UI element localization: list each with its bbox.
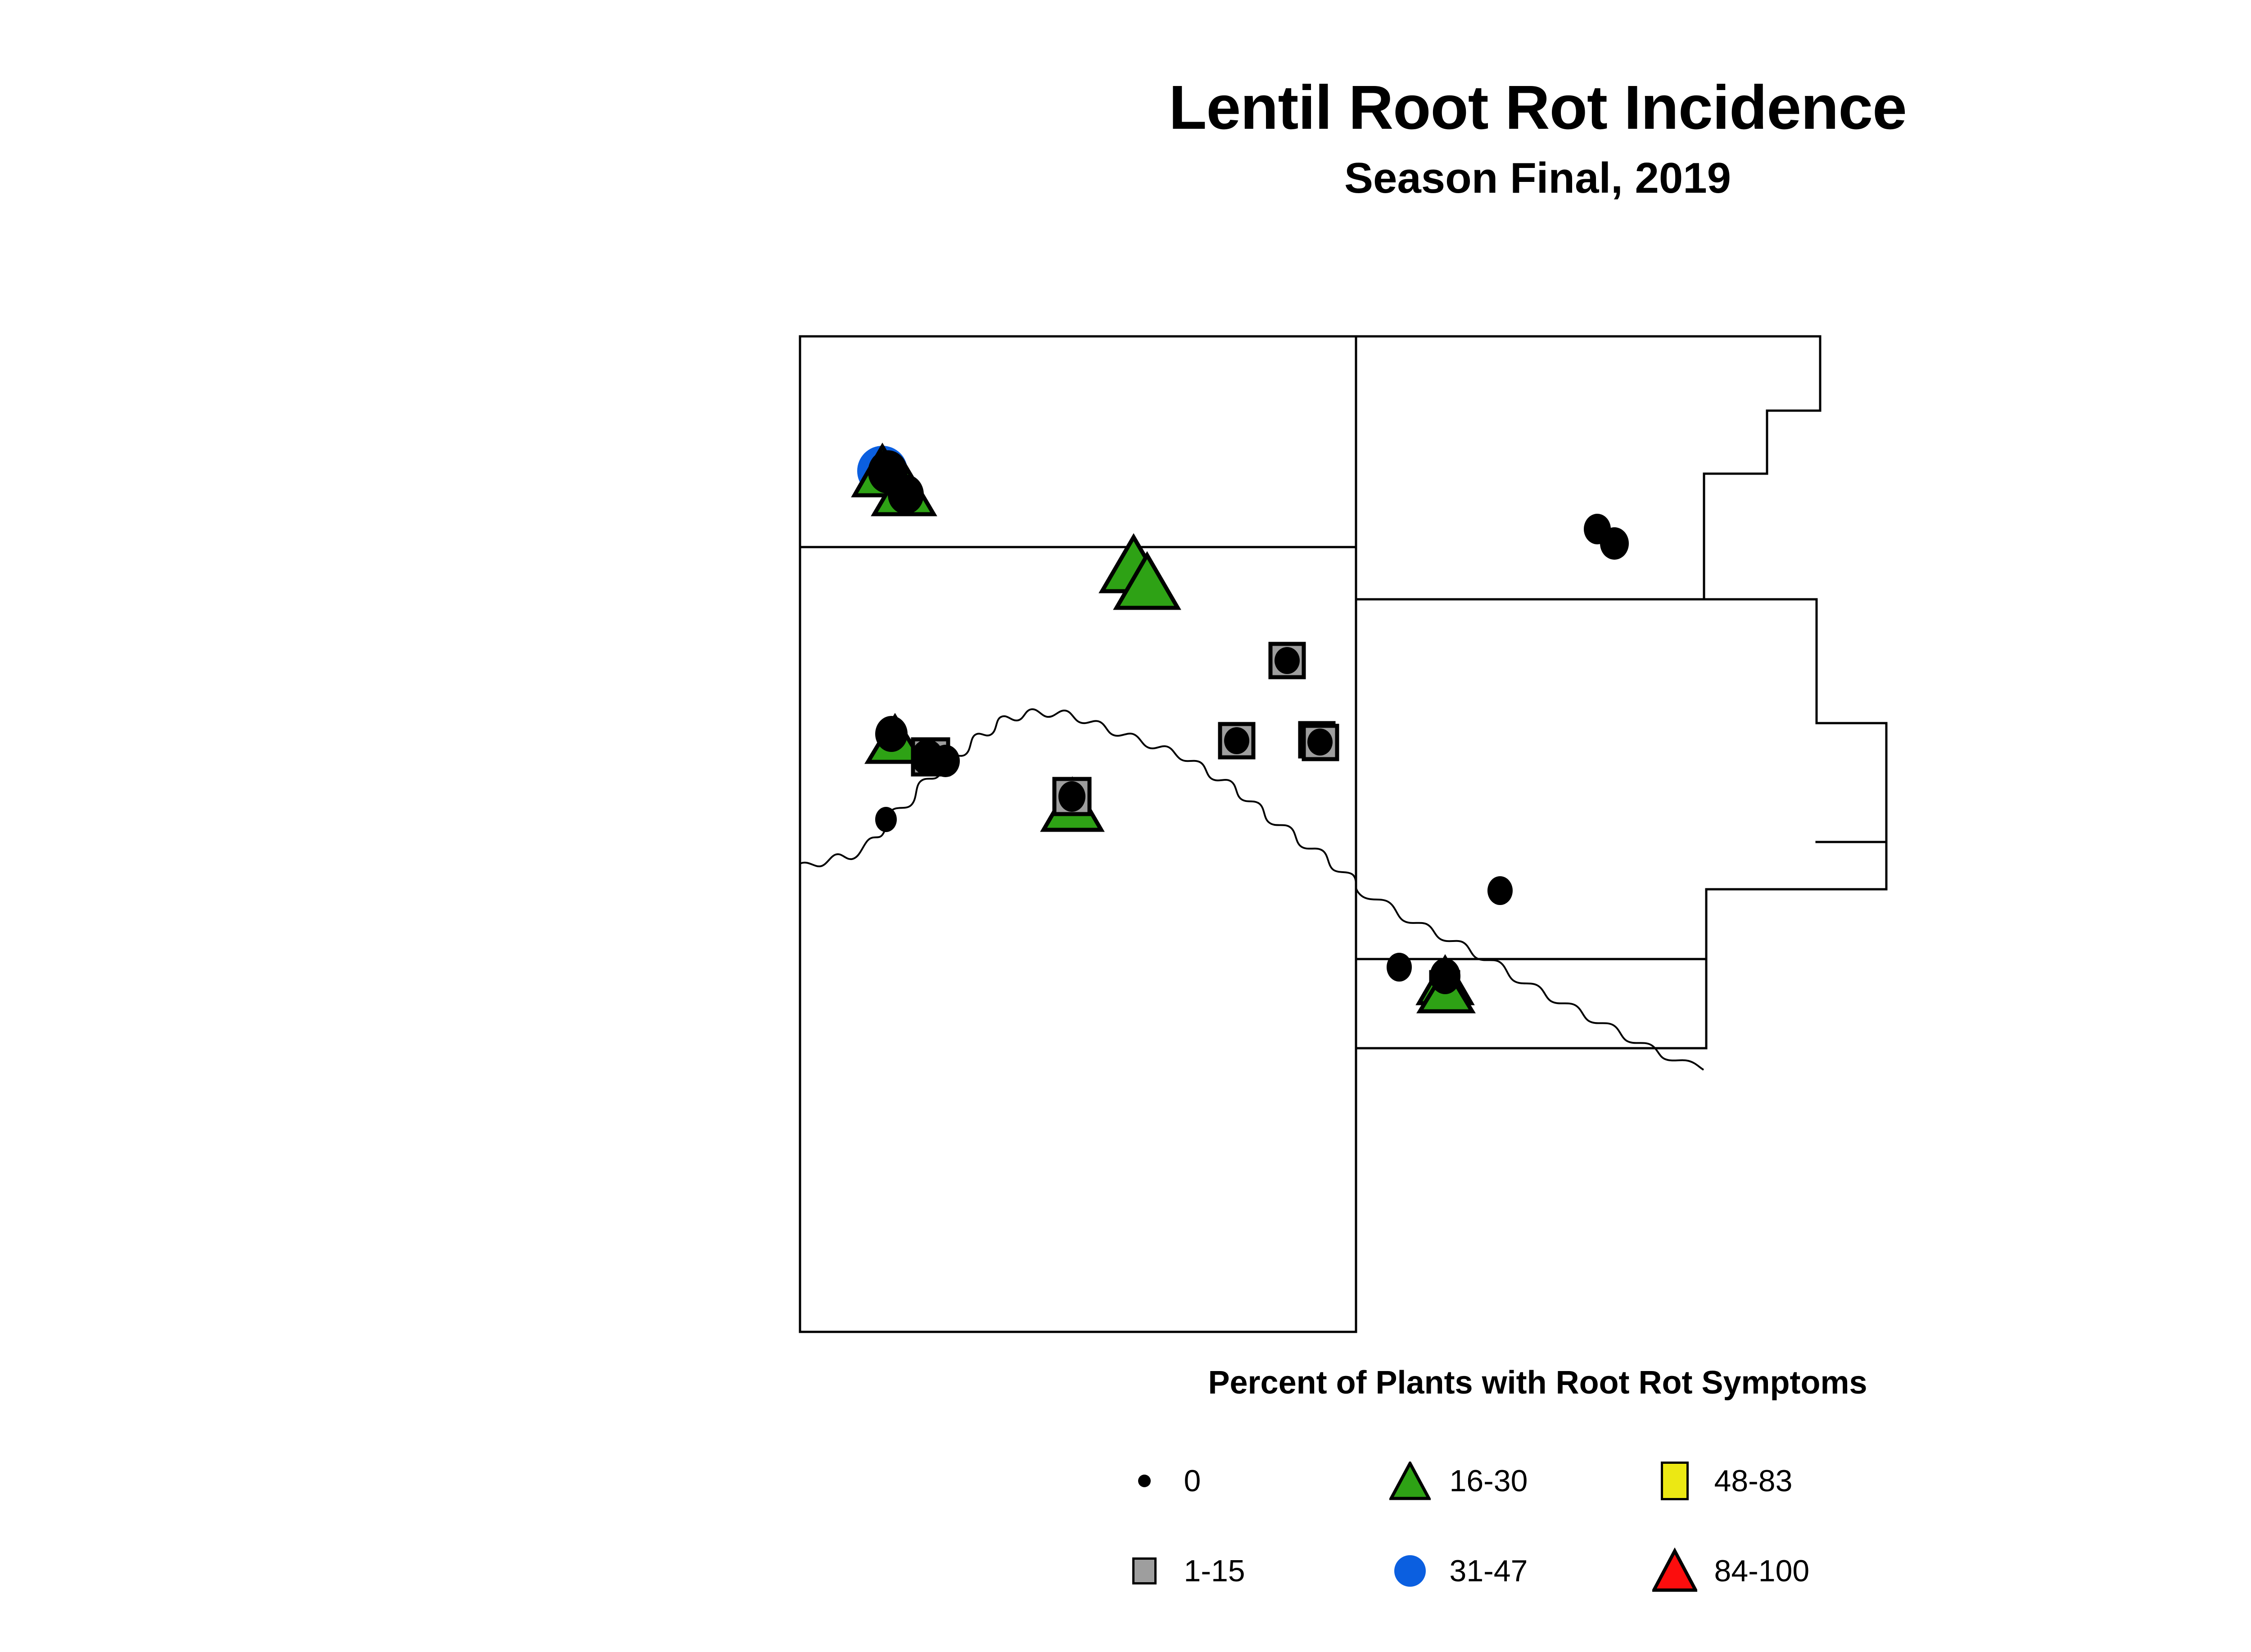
- marker-cluster-w-mid: [868, 716, 960, 777]
- square-icon: [1132, 1557, 1157, 1584]
- marker-cluster-nw: [854, 446, 934, 514]
- legend-label-16-30: 16-30: [1450, 1466, 1528, 1496]
- marker-cluster-central-sw: [1044, 779, 1101, 830]
- region-boundaries: [800, 336, 1886, 1332]
- marker-dot-0: [875, 807, 897, 832]
- legend-grid: 0 16-30 48-83: [1088, 1436, 1988, 1616]
- marker-dot-0: [1224, 727, 1249, 754]
- page-title: Lentil Root Rot Incidence: [0, 77, 2251, 139]
- legend-row: 1-15 31-47 84-100: [1088, 1526, 1988, 1616]
- legend-label-31-47: 31-47: [1450, 1556, 1528, 1586]
- legend-row: 0 16-30 48-83: [1088, 1436, 1988, 1526]
- circle-icon: [1394, 1555, 1426, 1587]
- dot-icon: [1138, 1475, 1151, 1487]
- map-svg: [792, 329, 2125, 1346]
- legend-item-1-15[interactable]: 1-15: [1088, 1546, 1361, 1596]
- marker-dot-0: [1387, 953, 1412, 982]
- triangle-icon: [1389, 1462, 1431, 1500]
- legend-item-0[interactable]: 0: [1088, 1456, 1361, 1506]
- legend-item-48-83[interactable]: 48-83: [1635, 1456, 1909, 1506]
- legend-swatch-1-15: [1122, 1546, 1167, 1596]
- marker-dot-0: [1600, 527, 1629, 560]
- marker-cluster-south: [1419, 958, 1472, 1011]
- map-canvas: [792, 329, 2125, 1346]
- legend-label-84-100: 84-100: [1714, 1556, 1810, 1586]
- legend-swatch-16-30: [1388, 1456, 1433, 1506]
- square-icon: [1661, 1462, 1689, 1500]
- data-markers: [854, 446, 1629, 1011]
- map-figure: Lentil Root Rot Incidence Season Final, …: [0, 0, 2251, 1652]
- legend-label-48-83: 48-83: [1714, 1466, 1793, 1496]
- legend: Percent of Plants with Root Rot Symptoms…: [0, 1367, 2251, 1616]
- marker-dot-0: [875, 716, 908, 752]
- marker-dot-0: [1487, 876, 1513, 905]
- marker-dot-0: [1058, 781, 1085, 812]
- legend-item-84-100[interactable]: 84-100: [1635, 1546, 1909, 1596]
- river-path-east: [1356, 887, 1704, 1070]
- triangle-icon: [1652, 1548, 1697, 1594]
- marker-group-1-15: [1220, 724, 1253, 757]
- legend-swatch-84-100: [1652, 1546, 1697, 1596]
- legend-label-0: 0: [1184, 1466, 1201, 1496]
- marker-dot-0: [1275, 647, 1300, 674]
- marker-dot-0: [1307, 729, 1333, 756]
- boundary-east-central: [1356, 599, 1886, 959]
- marker-group-1-15: [1300, 723, 1337, 759]
- legend-label-1-15: 1-15: [1184, 1556, 1245, 1586]
- marker-dot-0: [888, 475, 924, 514]
- legend-item-16-30[interactable]: 16-30: [1361, 1456, 1635, 1506]
- legend-item-31-47[interactable]: 31-47: [1361, 1546, 1635, 1596]
- title-block: Lentil Root Rot Incidence Season Final, …: [0, 77, 2251, 200]
- marker-dot-0: [931, 745, 960, 777]
- page-subtitle: Season Final, 2019: [0, 157, 2251, 200]
- legend-title: Percent of Plants with Root Rot Symptoms: [0, 1367, 2251, 1399]
- marker-cluster-ne-dots: [1584, 514, 1629, 560]
- legend-swatch-zero: [1122, 1456, 1167, 1506]
- marker-dot-0: [1430, 958, 1460, 994]
- legend-swatch-31-47: [1388, 1546, 1433, 1596]
- legend-swatch-48-83: [1652, 1456, 1697, 1506]
- marker-group-1-15: [1270, 644, 1304, 677]
- boundary-lower-right: [1706, 842, 1886, 889]
- boundary-ne-county: [1356, 336, 1820, 599]
